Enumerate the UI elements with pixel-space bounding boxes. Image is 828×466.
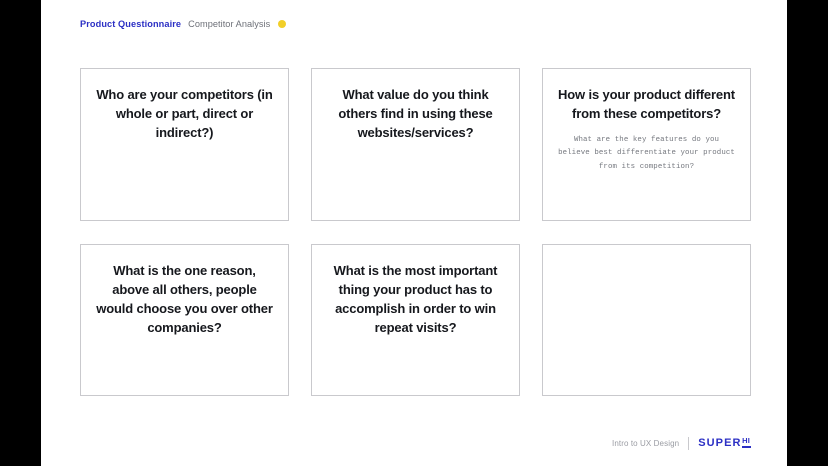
slide-footer: Intro to UX Design SUPERHI (612, 437, 750, 450)
question-card-6-empty[interactable] (542, 244, 751, 396)
footer-divider (688, 437, 689, 450)
question-text: What is the one reason, above all others… (95, 262, 274, 337)
question-text: Who are your competitors (in whole or pa… (95, 86, 274, 143)
question-card-2[interactable]: What value do you think others find in u… (311, 68, 520, 221)
page-title: Product Questionnaire (80, 19, 181, 29)
slide-canvas: Product Questionnaire Competitor Analysi… (41, 0, 787, 466)
slide-header: Product Questionnaire Competitor Analysi… (80, 19, 286, 29)
question-card-grid: Who are your competitors (in whole or pa… (80, 68, 750, 396)
page-subtitle: Competitor Analysis (188, 19, 270, 29)
question-note: What are the key features do you believe… (557, 134, 736, 175)
logo-hi-mark: HI (742, 437, 750, 445)
question-text: How is your product different from these… (557, 86, 736, 124)
question-text: What value do you think others find in u… (326, 86, 505, 143)
superhi-logo: SUPERHI (698, 438, 750, 449)
question-card-4[interactable]: What is the one reason, above all others… (80, 244, 289, 396)
screen: Product Questionnaire Competitor Analysi… (0, 0, 828, 466)
question-card-3[interactable]: How is your product different from these… (542, 68, 751, 221)
course-name: Intro to UX Design (612, 439, 679, 448)
question-text: What is the most important thing your pr… (326, 262, 505, 337)
logo-wordmark: SUPER (698, 438, 741, 449)
status-dot-icon (278, 20, 286, 28)
question-card-1[interactable]: Who are your competitors (in whole or pa… (80, 68, 289, 221)
question-card-5[interactable]: What is the most important thing your pr… (311, 244, 520, 396)
